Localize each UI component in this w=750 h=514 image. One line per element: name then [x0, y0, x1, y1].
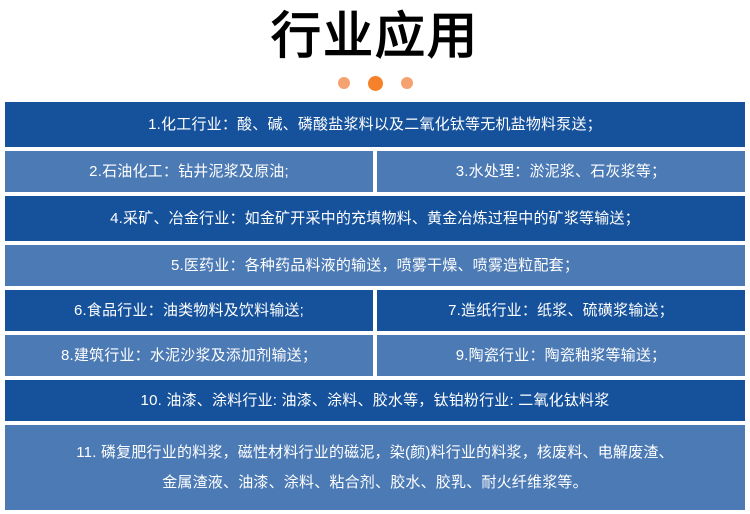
- dot-right-icon: [401, 77, 413, 89]
- list-item-3[interactable]: 3.水处理：淤泥浆、石灰浆等；: [377, 151, 745, 192]
- list-item-11-line-1: 11. 磷复肥行业的料浆，磁性材料行业的磁泥，染(颜)料行业的料浆，核废料、电解…: [11, 438, 739, 468]
- list-row-3: 4.采矿、冶金行业：如金矿开采中的充填物料、黄金冶炼过程中的矿浆等输送；: [5, 196, 745, 241]
- list-item-6[interactable]: 6.食品行业：油类物料及饮料输送;: [5, 290, 373, 331]
- list-item-7[interactable]: 7.造纸行业：纸浆、硫磺浆输送；: [377, 290, 745, 331]
- list-row-6: 8.建筑行业：水泥沙浆及添加剂输送； 9.陶瓷行业：陶瓷釉浆等输送；: [5, 335, 745, 376]
- dot-middle-icon: [368, 76, 383, 91]
- list-row-2: 2.石油化工：钻井泥浆及原油; 3.水处理：淤泥浆、石灰浆等；: [5, 151, 745, 192]
- list-row-7: 10. 油漆、涂料行业: 油漆、涂料、胶水等，钛铂粉行业: 二氧化钛料浆: [5, 380, 745, 421]
- page-root: 行业应用 1.化工行业：酸、碱、磷酸盐浆料以及二氧化钛等无机盐物料泵送； 2.石…: [0, 0, 750, 514]
- list-row-5: 6.食品行业：油类物料及饮料输送; 7.造纸行业：纸浆、硫磺浆输送；: [5, 290, 745, 331]
- page-header: 行业应用: [0, 0, 750, 91]
- list-item-4[interactable]: 4.采矿、冶金行业：如金矿开采中的充填物料、黄金冶炼过程中的矿浆等输送；: [5, 196, 745, 241]
- application-list: 1.化工行业：酸、碱、磷酸盐浆料以及二氧化钛等无机盐物料泵送； 2.石油化工：钻…: [0, 102, 750, 510]
- list-item-2[interactable]: 2.石油化工：钻井泥浆及原油;: [5, 151, 373, 192]
- list-item-5[interactable]: 5.医药业：各种药品料液的输送，喷雾干燥、喷雾造粒配套；: [5, 245, 745, 286]
- list-item-8[interactable]: 8.建筑行业：水泥沙浆及添加剂输送；: [5, 335, 373, 376]
- list-row-8: 11. 磷复肥行业的料浆，磁性材料行业的磁泥，染(颜)料行业的料浆，核废料、电解…: [5, 425, 745, 510]
- list-item-9[interactable]: 9.陶瓷行业：陶瓷釉浆等输送；: [377, 335, 745, 376]
- list-item-11[interactable]: 11. 磷复肥行业的料浆，磁性材料行业的磁泥，染(颜)料行业的料浆，核废料、电解…: [5, 425, 745, 510]
- list-row-4: 5.医药业：各种药品料液的输送，喷雾干燥、喷雾造粒配套；: [5, 245, 745, 286]
- list-item-10[interactable]: 10. 油漆、涂料行业: 油漆、涂料、胶水等，钛铂粉行业: 二氧化钛料浆: [5, 380, 745, 421]
- dot-left-icon: [338, 77, 350, 89]
- list-row-1: 1.化工行业：酸、碱、磷酸盐浆料以及二氧化钛等无机盐物料泵送；: [5, 102, 745, 147]
- list-item-1[interactable]: 1.化工行业：酸、碱、磷酸盐浆料以及二氧化钛等无机盐物料泵送；: [5, 102, 745, 147]
- list-item-11-line-2: 金属渣液、油漆、涂料、粘合剂、胶水、胶乳、耐火纤维浆等。: [11, 468, 739, 498]
- decorative-dots: [0, 75, 750, 91]
- page-title: 行业应用: [0, 6, 750, 66]
